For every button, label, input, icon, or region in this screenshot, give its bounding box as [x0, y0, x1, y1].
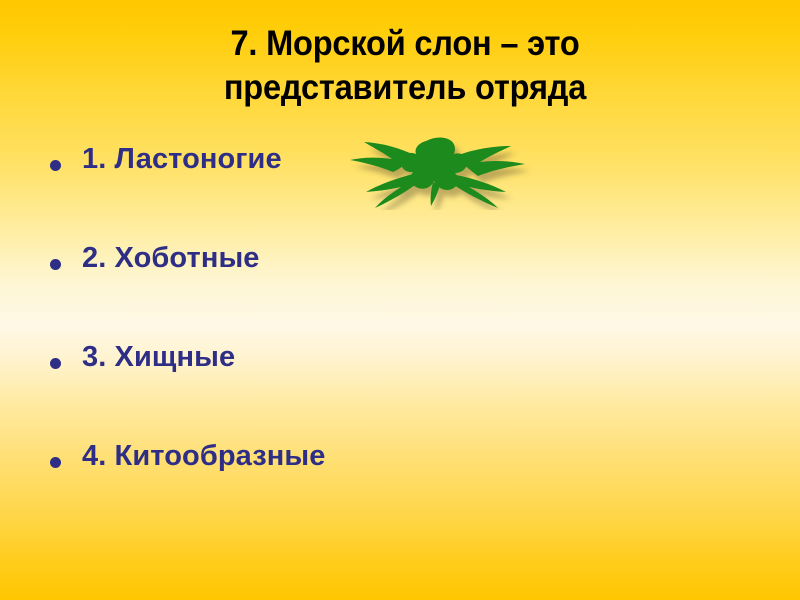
bullet-icon	[50, 457, 61, 468]
answer-option-4-label: 4. Китообразные	[82, 437, 325, 475]
page-title: 7. Морской слон – это представитель отря…	[60, 22, 750, 110]
list-item[interactable]: 4. Китообразные	[46, 437, 766, 536]
list-item[interactable]: 2. Хоботные	[46, 239, 766, 338]
bullet-icon	[50, 160, 61, 171]
bullet-icon	[50, 358, 61, 369]
bullet-icon	[50, 259, 61, 270]
list-item[interactable]: 3. Хищные	[46, 338, 766, 437]
slide-canvas: 7. Морской слон – это представитель отря…	[0, 0, 800, 600]
title-line-2: представитель отряда	[84, 66, 726, 110]
list-item[interactable]: 1. Ластоногие	[46, 140, 766, 239]
answer-option-1-label: 1. Ластоногие	[82, 140, 282, 178]
answer-options-list: 1. Ластоногие 2. Хоботные 3. Хищные 4. К…	[46, 140, 766, 536]
title-line-1: 7. Морской слон – это	[84, 22, 726, 66]
answer-option-2-label: 2. Хоботные	[82, 239, 260, 277]
answer-option-3-label: 3. Хищные	[82, 338, 235, 376]
